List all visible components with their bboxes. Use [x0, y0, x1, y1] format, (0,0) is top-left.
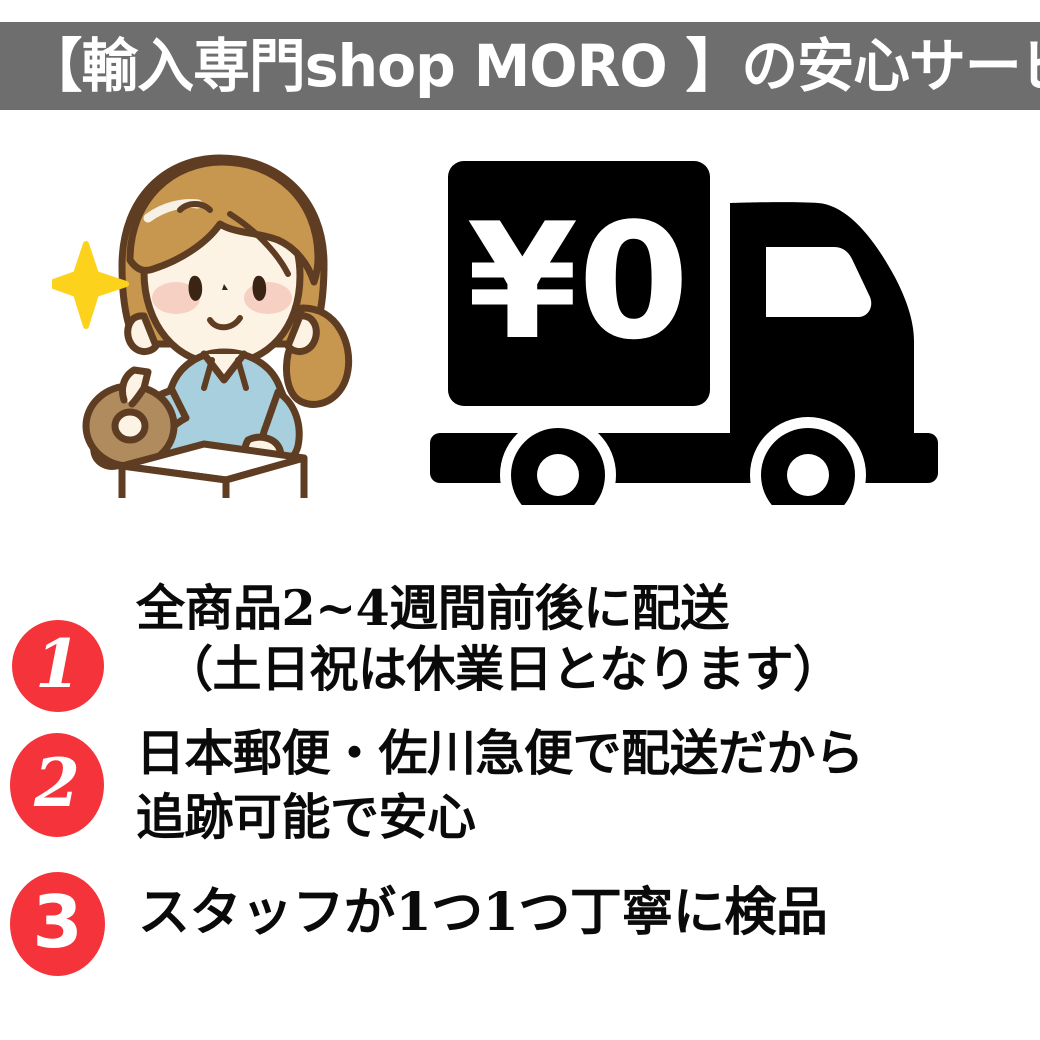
page-title: 【輸入専門shop MORO 】の安心サービス: [0, 37, 1040, 95]
service-number-badge-3: 3: [0, 864, 96, 964]
service-item-1: 1 全商品2~4週間前後に配送 （土日祝は休業日となります）: [0, 578, 1040, 701]
service-number-badge-2: 2: [0, 721, 96, 821]
badge-circle-2: 2: [10, 733, 104, 837]
badge-circle-1: 1: [12, 620, 104, 712]
free-shipping-truck-illustration: ¥0: [420, 145, 980, 510]
badge-number-text-3: 3: [32, 886, 82, 962]
service-list: 1 全商品2~4週間前後に配送 （土日祝は休業日となります） 2 日本郵便・佐川…: [0, 540, 1040, 964]
service-info-banner-page: 【輸入専門shop MORO 】の安心サービス: [0, 0, 1040, 1040]
service-text-3: スタッフが1つ1つ丁寧に検品: [96, 864, 1040, 945]
service-line-1-2: （土日祝は休業日となります）: [136, 639, 1040, 700]
service-item-2: 2 日本郵便・佐川急便で配送だから 追跡可能で安心: [0, 721, 1040, 850]
free-shipping-truck-svg: ¥0: [420, 145, 980, 505]
service-line-2-1: 日本郵便・佐川急便で配送だから: [136, 721, 1040, 786]
hero-illustration-row: ¥0: [0, 120, 1040, 520]
service-text-2: 日本郵便・佐川急便で配送だから 追跡可能で安心: [96, 721, 1040, 850]
badge-number-text-1: 1: [35, 631, 81, 701]
badge-circle-3: 3: [10, 872, 105, 976]
free-shipping-label: ¥0: [467, 188, 690, 375]
service-line-2-2: 追跡可能で安心: [136, 785, 1040, 850]
truck-cab: [730, 202, 914, 441]
woman-packing-box-svg: [52, 148, 382, 498]
service-line-3-1: スタッフが1つ1つ丁寧に検品: [138, 880, 1040, 945]
woman-packing-box-illustration: [52, 148, 382, 503]
service-text-1: 全商品2~4週間前後に配送 （土日祝は休業日となります）: [96, 578, 1040, 701]
sparkle-icon: [52, 244, 126, 326]
service-line-1-1: 全商品2~4週間前後に配送: [136, 578, 1040, 639]
header-banner: 【輸入専門shop MORO 】の安心サービス: [0, 22, 1040, 110]
cheek-right: [244, 282, 292, 314]
service-item-3: 3 スタッフが1つ1つ丁寧に検品: [0, 864, 1040, 964]
badge-number-text-2: 2: [34, 750, 80, 820]
service-number-badge-1: 1: [0, 578, 96, 678]
